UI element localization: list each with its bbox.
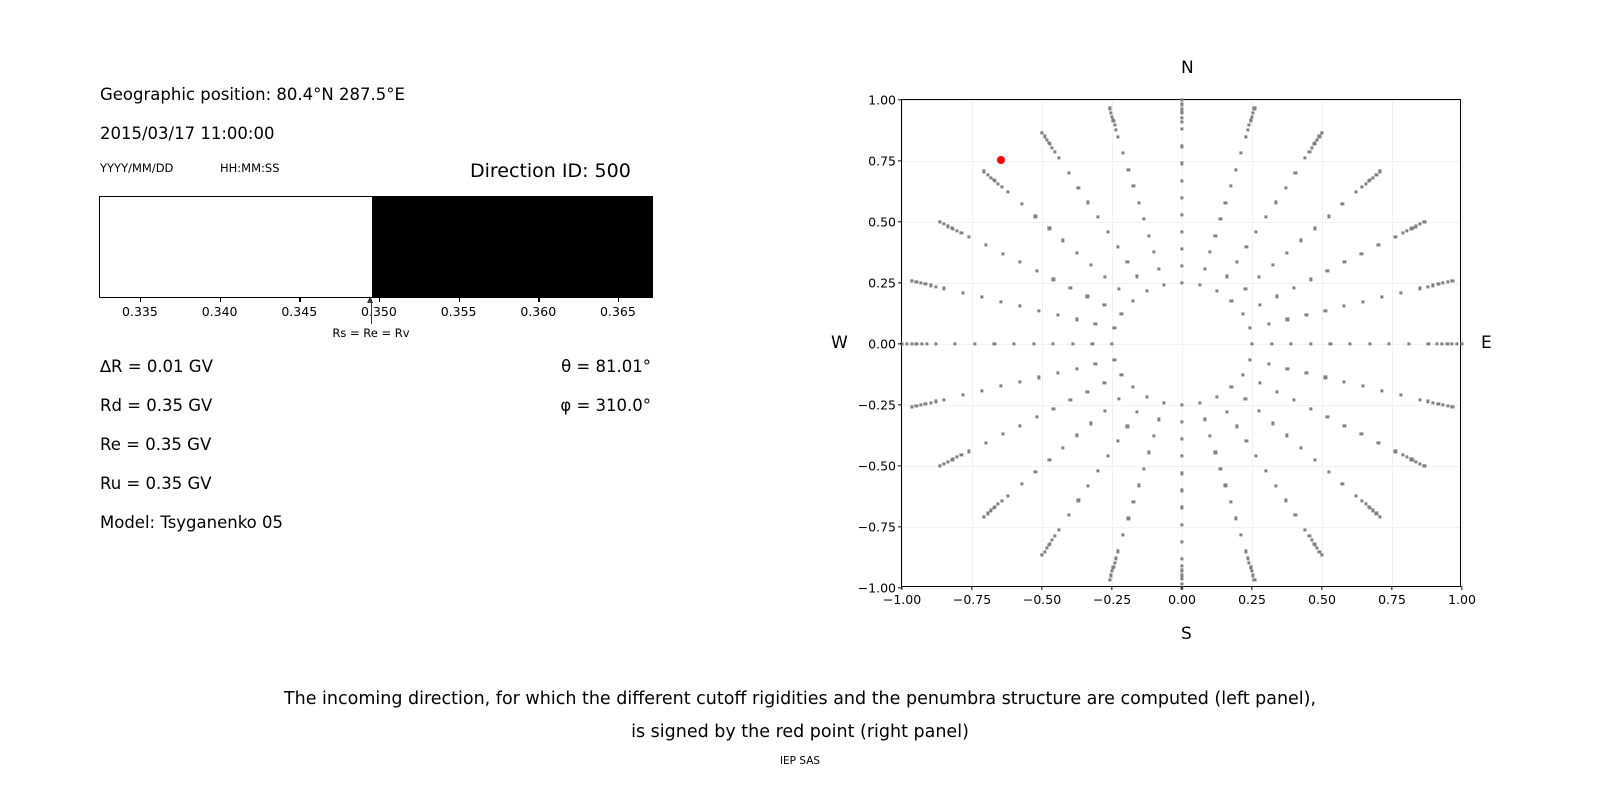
penumbra-tick-mark [140, 298, 141, 302]
scatter-point [1000, 185, 1003, 188]
scatter-point [1286, 318, 1289, 321]
scatter-point [1405, 456, 1408, 459]
param-ru: Ru = 0.35 GV [100, 474, 212, 493]
footer-credit: IEP SAS [0, 755, 1600, 767]
scatter-point [1180, 281, 1183, 284]
scatter-point [1381, 296, 1384, 299]
scatter-point [1368, 342, 1371, 345]
scatter-point [1361, 185, 1364, 188]
scatter-point [984, 244, 987, 247]
scatter-point [1320, 131, 1323, 134]
scatter-point [1103, 303, 1106, 306]
scatter-point [1089, 422, 1092, 425]
scatter-point [947, 225, 950, 228]
scatter-point [1075, 318, 1078, 321]
scatter-point [1327, 470, 1330, 473]
scatter-point [1180, 162, 1183, 165]
scatter-point [938, 464, 941, 467]
scatter-point [1381, 389, 1384, 392]
penumbra-tick-label: 0.340 [202, 304, 238, 319]
scatter-point [915, 280, 918, 283]
scatter-point [1209, 434, 1212, 437]
penumbra-tick-label: 0.360 [520, 304, 556, 319]
scatter-point [1180, 120, 1183, 123]
scatter-point [1414, 460, 1417, 463]
x-tick-label: 0.25 [1238, 592, 1266, 607]
scatter-point [1235, 425, 1238, 428]
scatter-point [1441, 282, 1444, 285]
scatter-point [1131, 386, 1134, 389]
scatter-point [1327, 215, 1330, 218]
gridline-horizontal [902, 344, 1460, 345]
scatter-point [1035, 416, 1038, 419]
scatter-point [1271, 422, 1274, 425]
penumbra-tick-mark [299, 298, 300, 302]
scatter-point [1394, 235, 1397, 238]
scatter-point [1313, 458, 1316, 461]
scatter-point [1075, 434, 1078, 437]
scatter-point [1419, 223, 1422, 226]
scatter-point [1377, 244, 1380, 247]
scatter-point [1215, 290, 1218, 293]
scatter-point [910, 279, 913, 282]
scatter-point [1116, 440, 1119, 443]
scatter-point [1077, 499, 1080, 502]
scatter-point [929, 284, 932, 287]
scatter-point [999, 300, 1002, 303]
y-tick-mark [898, 160, 902, 161]
scatter-point [1360, 252, 1363, 255]
scatter-point [942, 223, 945, 226]
gridline-vertical [1322, 100, 1323, 586]
scatter-point [1077, 186, 1080, 189]
scatter-point [1407, 342, 1410, 345]
scatter-point [1320, 554, 1323, 557]
scatter-point [1020, 482, 1023, 485]
scatter-point [1142, 217, 1145, 220]
scatter-point [1108, 107, 1111, 110]
scatter-point [999, 385, 1002, 388]
scatter-point [1244, 398, 1247, 401]
scatter-point [1032, 342, 1035, 345]
scatter-point [1086, 295, 1089, 298]
scatter-point [1252, 111, 1255, 114]
y-tick-label: −0.25 [858, 398, 896, 413]
scatter-point [1245, 440, 1248, 443]
scatter-point [1214, 234, 1217, 237]
scatter-point [942, 462, 945, 465]
scatter-point [1110, 342, 1113, 345]
scatter-point [1037, 309, 1040, 312]
scatter-point [1250, 115, 1253, 118]
scatter-point [1001, 433, 1004, 436]
scatter-point [1112, 565, 1115, 568]
scatter-point [1419, 462, 1422, 465]
selected-direction-point[interactable] [997, 156, 1005, 164]
gridline-horizontal [902, 527, 1460, 528]
scatter-point [1113, 124, 1116, 127]
scatter-point [1113, 327, 1116, 330]
scatter-point [1267, 363, 1270, 366]
scatter-point [1052, 342, 1055, 345]
scatter-point [1001, 252, 1004, 255]
scatter-point [955, 229, 958, 232]
scatter-point [1324, 376, 1327, 379]
scatter-point [1152, 250, 1155, 253]
scatter-point [1050, 146, 1053, 149]
scatter-point [1368, 179, 1371, 182]
scatter-point [1271, 263, 1274, 266]
scatter-point [1114, 557, 1117, 560]
left-panel: Geographic position: 80.4°N 287.5°E 2015… [0, 0, 800, 660]
scatter-point [1343, 424, 1346, 427]
scatter-point [1355, 191, 1358, 194]
penumbra-tick-label: 0.335 [122, 304, 158, 319]
scatter-point [916, 342, 919, 345]
scatter-point [1048, 542, 1051, 545]
scatter-point [1109, 111, 1112, 114]
scatter-point [915, 404, 918, 407]
param-rd: Rd = 0.35 GV [100, 396, 212, 415]
scatter-point [1180, 557, 1183, 560]
scatter-point [1048, 458, 1051, 461]
scatter-point [925, 283, 928, 286]
scatter-point [1067, 171, 1070, 174]
scatter-point [1209, 250, 1212, 253]
y-tick-mark [898, 282, 902, 283]
scatter-point [1131, 299, 1134, 302]
y-tick-mark [898, 404, 902, 405]
scatter-point [1258, 303, 1261, 306]
scatter-point [1427, 285, 1430, 288]
scatter-point [1284, 186, 1287, 189]
scatter-point [1436, 283, 1439, 286]
x-tick-mark [1321, 586, 1322, 590]
scatter-point [1294, 514, 1297, 517]
scatter-point [1018, 305, 1021, 308]
scatter-point [1230, 299, 1233, 302]
scatter-point [1308, 535, 1311, 538]
penumbra-plot-area [99, 196, 653, 298]
scatter-point [951, 227, 954, 230]
scatter-point [947, 460, 950, 463]
scatter-point [1234, 517, 1237, 520]
scatter-point [1113, 561, 1116, 564]
gridline-horizontal [902, 466, 1460, 467]
scatter-point [1250, 570, 1253, 573]
scatter-point [1136, 275, 1139, 278]
scatter-point [1399, 394, 1402, 397]
scatter-point [1264, 216, 1267, 219]
scatter-point [1122, 533, 1125, 536]
scatter-point [1305, 313, 1308, 316]
scatter-point [1360, 433, 1363, 436]
param-phi: φ = 310.0° [560, 396, 651, 415]
y-tick-label: −0.75 [858, 520, 896, 535]
scatter-point [1180, 569, 1183, 572]
scatter-point [1120, 312, 1123, 315]
scatter-point [1315, 139, 1318, 142]
scatter-point [1116, 245, 1119, 248]
scatter-point [1094, 322, 1097, 325]
scatter-point [1120, 373, 1123, 376]
scatter-point [1309, 407, 1312, 410]
scatter-point [1274, 201, 1277, 204]
scatter-point [1180, 472, 1183, 475]
scatter-point [1241, 312, 1244, 315]
x-tick-label: −0.50 [1023, 592, 1061, 607]
scatter-point [1378, 170, 1381, 173]
scatter-point [1180, 438, 1183, 441]
scatter-point [1057, 528, 1060, 531]
scatter-point [1180, 455, 1183, 458]
scatter-point [1057, 156, 1060, 159]
scatter-point [1180, 230, 1183, 233]
scatter-point [1230, 386, 1233, 389]
scatter-point [1258, 381, 1261, 384]
scatter-point [1299, 446, 1302, 449]
y-tick-mark [898, 465, 902, 466]
scatter-point [1091, 342, 1094, 345]
scatter-point [1284, 499, 1287, 502]
scatter-point [934, 285, 937, 288]
scatter-point [960, 453, 963, 456]
y-tick-mark [898, 221, 902, 222]
scatter-point [1117, 550, 1120, 553]
caption-line-1: The incoming direction, for which the di… [0, 683, 1600, 716]
scatter-point [910, 406, 913, 409]
scatter-point [1414, 225, 1417, 228]
scatter-point [905, 342, 908, 345]
scatter-point [967, 235, 970, 238]
scatter-point [1431, 284, 1434, 287]
scatter-point [1252, 574, 1255, 577]
scatter-point [1410, 227, 1413, 230]
x-tick-label: −0.75 [953, 592, 991, 607]
param-model: Model: Tsyganenko 05 [100, 513, 283, 532]
scatter-point [1056, 313, 1059, 316]
scatter-point [1427, 400, 1430, 403]
penumbra-tick-label: 0.355 [441, 304, 477, 319]
y-tick-mark [898, 99, 902, 100]
scatter-point [1364, 182, 1367, 185]
scatter-point [1310, 146, 1313, 149]
scatter-point [1127, 517, 1130, 520]
scatter-point [1313, 227, 1316, 230]
scatter-point [1446, 280, 1449, 283]
scatter-point [1310, 539, 1313, 542]
scatter-point [1136, 410, 1139, 413]
scatter-point [1341, 482, 1344, 485]
scatter-point [1180, 116, 1183, 119]
scatter-point [1180, 264, 1183, 267]
y-tick-label: 0.25 [868, 276, 896, 291]
scatter-point [1267, 322, 1270, 325]
scatter-point [1441, 403, 1444, 406]
scatter-point [1290, 342, 1293, 345]
scatter-point [1440, 342, 1443, 345]
penumbra-tick-mark [220, 298, 221, 302]
scatter-point [1445, 342, 1448, 345]
scatter-point [910, 342, 913, 345]
scatter-point [1451, 279, 1454, 282]
scatter-point [1318, 135, 1321, 138]
scatter-point [942, 398, 945, 401]
scatter-point [1034, 215, 1037, 218]
param-delta-r: ∆R = 0.01 GV [100, 357, 213, 376]
scatter-point [1244, 287, 1247, 290]
x-tick-mark [1251, 586, 1252, 590]
param-theta: θ = 81.01° [561, 357, 651, 376]
scatter-point [1435, 342, 1438, 345]
scatter-point [955, 456, 958, 459]
x-tick-mark [1041, 586, 1042, 590]
scatter-point [1305, 371, 1308, 374]
param-re: Re = 0.35 GV [100, 435, 211, 454]
scatter-point [1142, 467, 1145, 470]
scatter-point [1348, 342, 1351, 345]
scatter-point [1234, 168, 1237, 171]
scatter-point [1180, 107, 1183, 110]
scatter-point [942, 287, 945, 290]
penumbra-tick-mark [618, 298, 619, 302]
scatter-point [1264, 469, 1267, 472]
scatter-point [1405, 229, 1408, 232]
scatter-point [1329, 342, 1332, 345]
scatter-point [1375, 173, 1378, 176]
scatter-point [1286, 367, 1289, 370]
scatter-point [1235, 260, 1238, 263]
scatter-point [925, 402, 928, 405]
scatter-point [1375, 512, 1378, 515]
scatter-point [1069, 286, 1072, 289]
scatter-point [1204, 418, 1207, 421]
scatter-point [1318, 550, 1321, 553]
scatter-point [1343, 305, 1346, 308]
scatter-point [1388, 342, 1391, 345]
scatter-point [1048, 227, 1051, 230]
scatter-point [1145, 395, 1148, 398]
geographic-position-label: Geographic position: 80.4°N 287.5°E [100, 85, 405, 104]
scatter-point [1157, 267, 1160, 270]
scatter-point [1114, 128, 1117, 131]
scatter-point [1152, 434, 1155, 437]
scatter-point [1180, 582, 1183, 585]
scatter-point [1126, 260, 1129, 263]
scatter-point [934, 400, 937, 403]
scatter-point [1180, 103, 1183, 106]
scatter-point [1117, 398, 1120, 401]
scatter-point [1089, 263, 1092, 266]
scatter-point [1313, 143, 1316, 146]
scatter-point [1275, 390, 1278, 393]
scatter-point [1145, 290, 1148, 293]
scatter-point [1199, 401, 1202, 404]
scatter-point [1147, 451, 1150, 454]
scatter-point [1147, 234, 1150, 237]
scatter-point [1285, 434, 1288, 437]
scatter-point [1137, 484, 1140, 487]
x-tick-label: 0.75 [1378, 592, 1406, 607]
scatter-point [1180, 112, 1183, 115]
scatter-point [993, 506, 996, 509]
scatter-point [1245, 245, 1248, 248]
compass-label-west: W [831, 333, 848, 353]
scatter-point [1270, 342, 1273, 345]
scatter-point [1362, 385, 1365, 388]
scatter-point [1006, 494, 1009, 497]
penumbra-tick-mark [379, 298, 380, 302]
scatter-point [1132, 500, 1135, 503]
scatter-point [1122, 152, 1125, 155]
scatter-point [1343, 261, 1346, 264]
scatter-point [1126, 425, 1129, 428]
x-tick-mark [1111, 586, 1112, 590]
scatter-point [1180, 196, 1183, 199]
scatter-point [1050, 539, 1053, 542]
scatter-point [1018, 380, 1021, 383]
scatter-point [1225, 275, 1228, 278]
scatter-point [1180, 247, 1183, 250]
scatter-point [1436, 402, 1439, 405]
scatter-point [1355, 494, 1358, 497]
scatter-point [1275, 295, 1278, 298]
scatter-point [1253, 578, 1256, 581]
scatter-point [1108, 578, 1111, 581]
scatter-point [1343, 380, 1346, 383]
scatter-point [982, 515, 985, 518]
scatter-point [1096, 216, 1099, 219]
scatter-point [1258, 410, 1261, 413]
scatter-point [1451, 406, 1454, 409]
scatter-point [1075, 367, 1078, 370]
scatter-point [1117, 135, 1120, 138]
scatter-point [938, 220, 941, 223]
scatter-point [1313, 542, 1316, 545]
scatter-point [1285, 251, 1288, 254]
figure-caption: The incoming direction, for which the di… [0, 683, 1600, 749]
scatter-point [1103, 381, 1106, 384]
rs-arrow-head [367, 296, 373, 303]
scatter-point [1253, 107, 1256, 110]
scatter-point [1040, 554, 1043, 557]
scatter-point [1180, 98, 1183, 101]
scatter-point [1427, 342, 1430, 345]
time-format-hint: HH:MM:SS [220, 161, 280, 175]
x-tick-mark [1181, 586, 1182, 590]
scatter-point [990, 509, 993, 512]
y-tick-mark [898, 526, 902, 527]
scatter-point [1371, 176, 1374, 179]
penumbra-forbidden-band [372, 197, 653, 297]
scatter-point [1012, 342, 1015, 345]
scatter-point [1204, 267, 1207, 270]
scatter-point [980, 296, 983, 299]
scatter-point [1037, 376, 1040, 379]
scatter-point [1111, 115, 1114, 118]
scatter-point [920, 403, 923, 406]
penumbra-chart: 0.3350.3400.3450.3500.3550.3600.365 Rs =… [99, 196, 653, 298]
scatter-point [1241, 373, 1244, 376]
compass-label-east: E [1481, 333, 1492, 353]
scatter-point [1214, 451, 1217, 454]
right-panel: −1.00−0.75−0.50−0.250.000.250.500.751.00… [800, 0, 1600, 660]
scatter-point [1113, 358, 1116, 361]
scatter-point [1040, 131, 1043, 134]
scatter-point [1431, 401, 1434, 404]
scatter-point [1224, 201, 1227, 204]
scatter-point [980, 389, 983, 392]
